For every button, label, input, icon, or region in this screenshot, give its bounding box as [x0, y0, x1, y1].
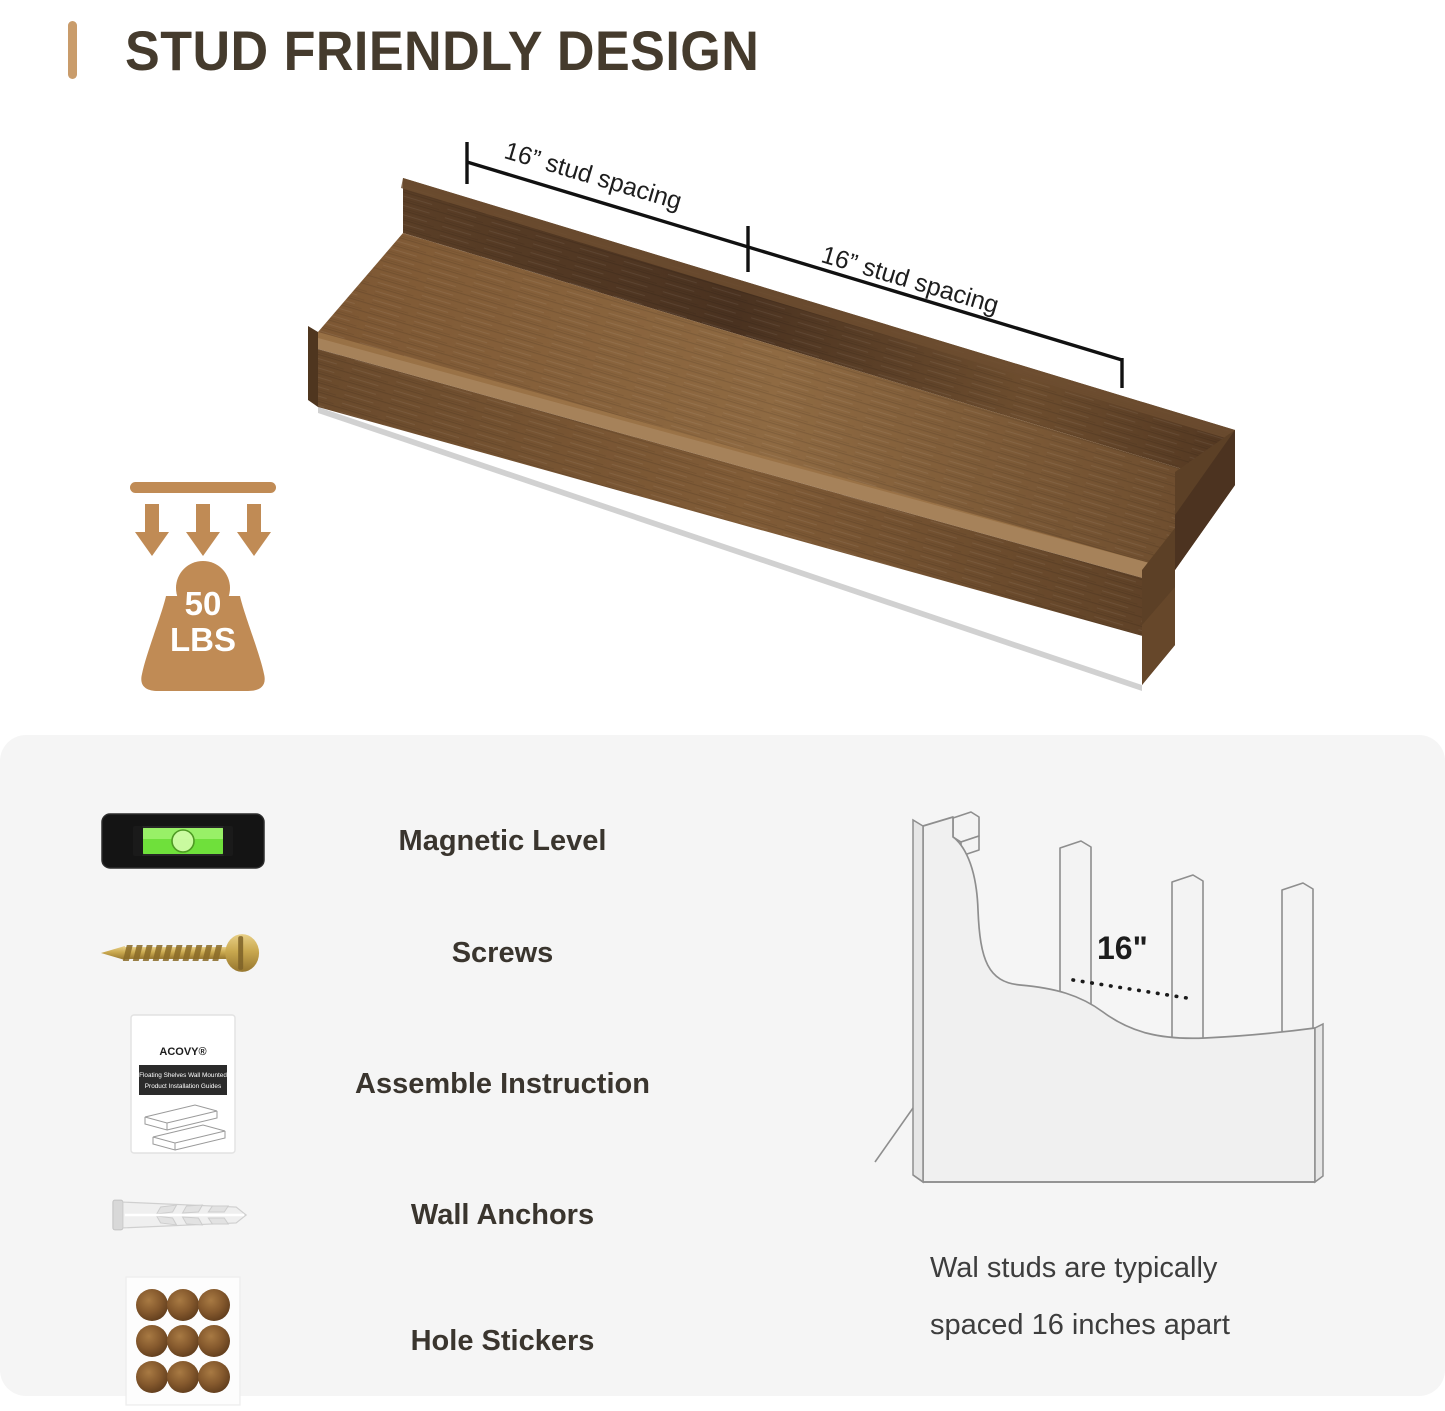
list-item: Magnetic Level — [95, 785, 755, 897]
magnetic-level-icon — [95, 785, 270, 897]
list-item: Hole Stickers — [95, 1271, 755, 1411]
accessory-label: Magnetic Level — [270, 825, 755, 858]
wall-stud-diagram: 16" — [845, 790, 1345, 1220]
title-accent-bar — [68, 21, 77, 79]
hole-stickers-icon — [95, 1271, 270, 1411]
list-item: Wall Anchors — [95, 1159, 755, 1271]
wall-anchor-icon — [95, 1159, 270, 1271]
weight-icon — [118, 478, 288, 693]
included-accessories-panel: Magnetic Level — [0, 735, 1445, 1396]
accessory-label: Screws — [270, 937, 755, 970]
caption-line-1: Wal studs are typically — [930, 1240, 1350, 1297]
stud-diagram-caption: Wal studs are typically spaced 16 inches… — [930, 1240, 1350, 1354]
accessories-list: Magnetic Level — [95, 785, 755, 1411]
caption-line-2: spaced 16 inches apart — [930, 1297, 1350, 1354]
screw-icon — [95, 897, 270, 1009]
booklet-banner-line1: Floating Shelves Wall Mounted — [139, 1072, 227, 1079]
weight-capacity-badge: 50 LBS — [118, 478, 288, 693]
instruction-booklet-icon: ACOVY® Floating Shelves Wall Mounted Pro… — [95, 1009, 270, 1159]
list-item: Screws — [95, 897, 755, 1009]
accessory-label: Assemble Instruction — [270, 1068, 755, 1101]
page-header: STUD FRIENDLY DESIGN — [0, 0, 1445, 100]
booklet-brand: ACOVY® — [159, 1046, 206, 1058]
page-title: STUD FRIENDLY DESIGN — [125, 18, 759, 83]
accessory-label: Wall Anchors — [270, 1199, 755, 1232]
list-item: ACOVY® Floating Shelves Wall Mounted Pro… — [95, 1009, 755, 1159]
stud-spacing-dimension: 16" — [1097, 930, 1148, 967]
accessory-label: Hole Stickers — [270, 1325, 755, 1358]
booklet-banner-line2: Product Installation Guides — [144, 1083, 220, 1090]
